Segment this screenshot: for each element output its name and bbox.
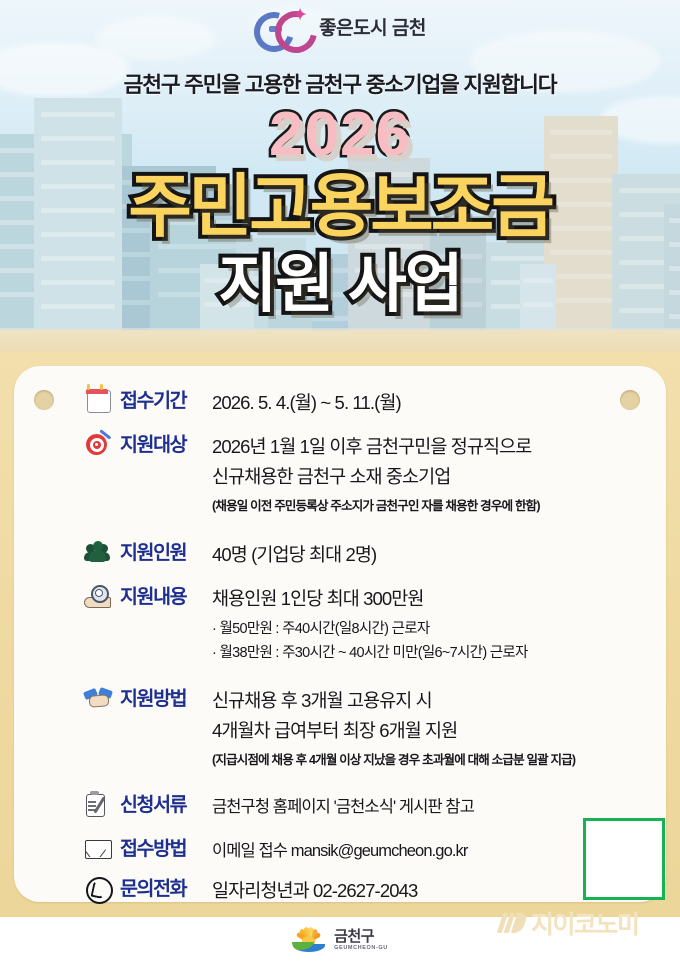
handshake-icon [84, 686, 114, 712]
watermark-text: 지이코노미 [531, 905, 639, 941]
row-value: 일자리청년과 02-2627-2043 [212, 876, 417, 906]
target-icon [84, 432, 114, 458]
row-지원방법: 지원방법 신규채용 후 3개월 고용유지 시 4개월차 급여부터 최장 6개월 … [84, 686, 575, 770]
row-label: 접수기간 [120, 388, 212, 414]
poster-year: 2026 [0, 104, 680, 166]
row-문의전화: 문의전화 일자리청년과 02-2627-2043 [84, 876, 417, 906]
info-rows: 접수기간 2026. 5. 4.(월) ~ 5. 11.(월) 지원대상 202… [0, 352, 652, 888]
row-지원인원: 지원인원 40명 (기업당 최대 2명) [84, 540, 376, 570]
clipboard-pencil-icon [84, 792, 114, 818]
row-value-line: 4개월차 급여부터 최장 6개월 지원 [212, 716, 575, 746]
top-brand-logo: ✦ 좋은도시 금천 [0, 6, 680, 46]
info-card-band: 접수기간 2026. 5. 4.(월) ~ 5. 11.(월) 지원대상 202… [0, 352, 680, 917]
row-label: 신청서류 [120, 792, 212, 818]
gc-logo-mark: ✦ [254, 9, 310, 43]
row-신청서류: 신청서류 금천구청 홈페이지 '금천소식' 게시판 참고 [84, 792, 474, 822]
row-접수기간: 접수기간 2026. 5. 4.(월) ~ 5. 11.(월) [84, 388, 401, 418]
watermark: 지이코노미 [500, 905, 639, 941]
row-value-line: 신규채용한 금천구 소재 중소기업 [212, 462, 540, 492]
calendar-icon [84, 388, 114, 414]
poster-title-line1: 주민고용보조금 [0, 172, 680, 241]
row-bullet: · 월50만원 : 주40시간(일8시간) 근로자 [212, 617, 528, 641]
row-label: 접수방법 [120, 836, 212, 862]
footer-org-name-en: GEUMCHEON-GU [334, 946, 388, 952]
row-label: 지원방법 [120, 686, 212, 712]
row-label: 지원인원 [120, 540, 212, 566]
hand-money-icon [84, 584, 114, 610]
qr-code-matrix [589, 824, 659, 894]
sun-emblem-icon [292, 927, 326, 953]
poster-title-line2: 지원 사업 [0, 252, 680, 316]
row-value: 2026. 5. 4.(월) ~ 5. 11.(월) [212, 388, 401, 418]
star-icon: ✦ [292, 6, 308, 25]
row-value: 40명 (기업당 최대 2명) [212, 540, 376, 570]
qr-code[interactable] [583, 818, 665, 900]
row-지원내용: 지원내용 채용인원 1인당 최대 300만원 · 월50만원 : 주40시간(일… [84, 584, 528, 665]
phone-icon [84, 876, 114, 902]
watermark-logo-icon [500, 913, 526, 933]
row-label: 문의전화 [120, 876, 212, 902]
row-value: 금천구청 홈페이지 '금천소식' 게시판 참고 [212, 792, 474, 822]
row-bullet: · 월38만원 : 주30시간 ~ 40시간 미만(일6~7시간) 근로자 [212, 641, 528, 665]
poster: ✦ 좋은도시 금천 금천구 주민을 고용한 금천구 중소기업을 지원합니다 20… [0, 0, 680, 961]
row-지원대상: 지원대상 2026년 1월 1일 이후 금천구민을 정규직으로 신규채용한 금천… [84, 432, 540, 516]
top-brand-text: 좋은도시 금천 [319, 13, 426, 40]
people-icon [84, 540, 114, 566]
row-label: 지원내용 [120, 584, 212, 610]
row-label: 지원대상 [120, 432, 212, 458]
row-value-line: 2026년 1월 1일 이후 금천구민을 정규직으로 [212, 432, 540, 462]
row-value: 채용인원 1인당 최대 300만원 [212, 584, 528, 614]
row-value: 이메일 접수 mansik@geumcheon.go.kr [212, 836, 467, 866]
row-note: (지급시점에 채용 후 4개월 이상 지났을 경우 초과월에 대해 소급분 일괄… [212, 750, 575, 770]
row-note: (채용일 이전 주민등록상 주소지가 금천구인 자를 채용한 경우에 한함) [212, 496, 540, 516]
row-접수방법: 접수방법 이메일 접수 mansik@geumcheon.go.kr [84, 836, 467, 866]
poster-subtitle: 금천구 주민을 고용한 금천구 중소기업을 지원합니다 [0, 68, 680, 99]
footer-org-name: 금천구 [334, 929, 388, 944]
envelope-icon [84, 836, 114, 862]
row-value-line: 신규채용 후 3개월 고용유지 시 [212, 686, 575, 716]
